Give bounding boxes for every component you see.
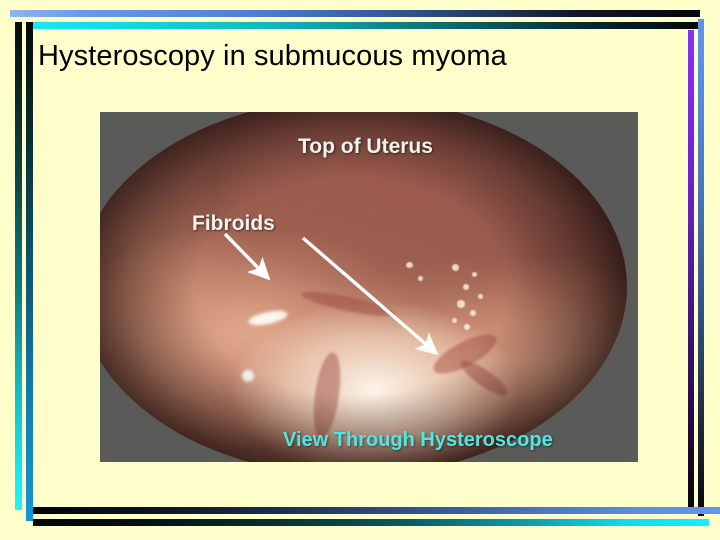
endoscopy-photo: Top of Uterus Fibroids View Through Hyst… [100, 112, 638, 462]
left-blue-gradient-bar [26, 22, 33, 521]
photo-label-top-of-uterus: Top of Uterus [298, 135, 433, 159]
fibroids-arrow-short [225, 234, 268, 278]
annotation-arrows [100, 112, 638, 462]
photo-label-fibroids: Fibroids [192, 212, 275, 236]
right-purple-gradient-bar [688, 30, 694, 513]
slide-title: Hysteroscopy in submucous myoma [38, 38, 638, 74]
slide-canvas: Hysteroscopy in submucous myoma [0, 0, 720, 540]
right-blue-gradient-bar [698, 19, 704, 516]
photo-label-view-through-hysteroscope: View Through Hysteroscope [283, 429, 553, 452]
top-blue-gradient-bar [10, 10, 700, 17]
bottom-cyan-gradient-bar [33, 519, 709, 526]
top-cyan-gradient-bar [26, 22, 700, 29]
fibroids-arrow-long [303, 238, 436, 353]
bottom-blue-gradient-bar [33, 507, 720, 514]
left-cyan-gradient-bar [15, 22, 22, 510]
